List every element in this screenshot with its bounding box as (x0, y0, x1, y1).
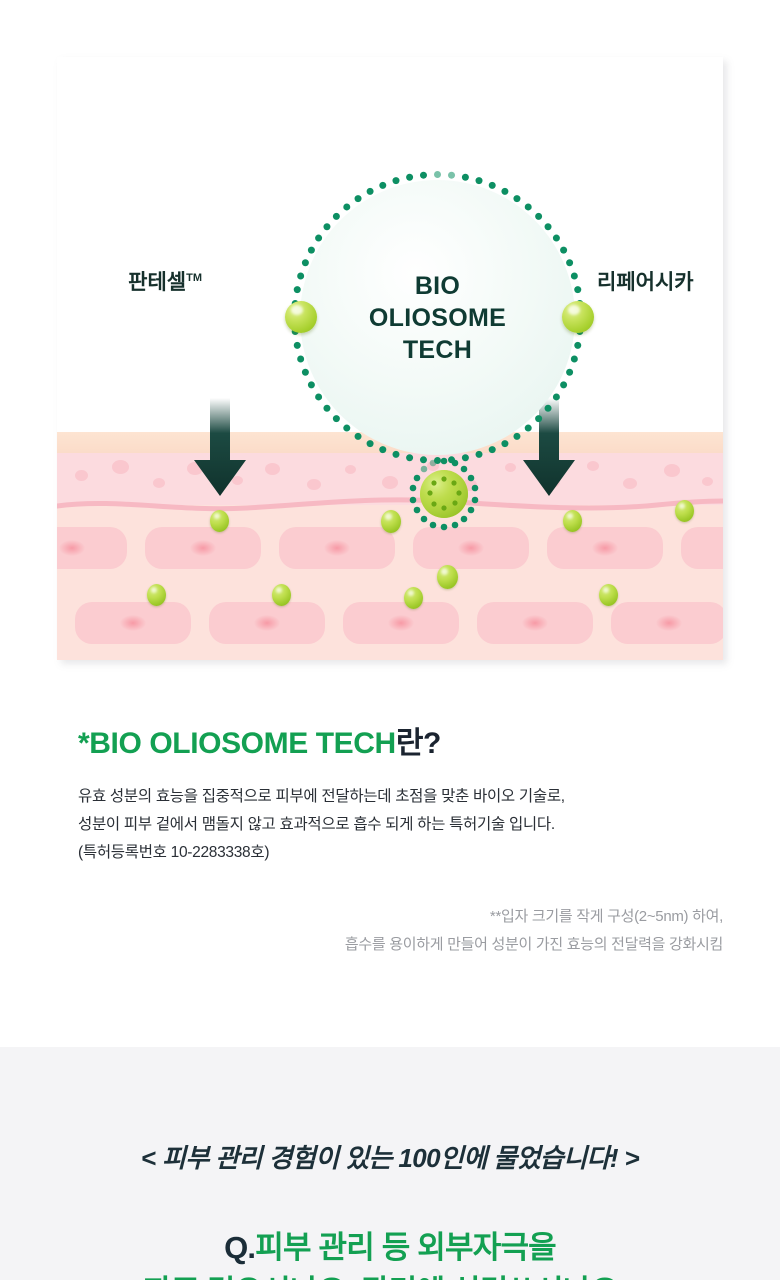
ingredient-particle (599, 584, 618, 606)
survey-question-line-2: 자주 겪으시나요, 관리에 신경쓰시나요? (0, 1266, 780, 1280)
ingredient-label-right: 리페어시카 (597, 266, 694, 296)
tech-heading: *BIO OLIOSOME TECH란? (78, 718, 441, 762)
survey-headline: < 피부 관리 경험이 있는 100인에 물었습니다! > (0, 1138, 780, 1175)
ingredient-label-left-text: 판테셀 (128, 271, 186, 294)
description-line-1: 유효 성분의 효능을 집중적으로 피부에 전달하는데 초점을 맞춘 바이오 기술… (78, 783, 698, 811)
ingredient-particle (675, 500, 694, 522)
description-line-2: 성분이 피부 겉에서 맴돌지 않고 효과적으로 흡수 되게 하는 특허기술 입니… (78, 811, 698, 839)
ingredient-bead-left (285, 301, 317, 333)
tech-heading-green: *BIO OLIOSOME TECH (78, 727, 396, 760)
trademark-mark: TM (186, 272, 202, 284)
ingredient-label-left: 판테셀TM (128, 266, 202, 296)
tech-explainer-section: BIO OLIOSOME TECH 판테셀TM 리페어시카 *BIO OLIOS… (0, 0, 780, 1047)
ingredient-particle (437, 565, 458, 589)
ingredient-particle (272, 584, 291, 606)
particle-size-note: **입자 크기를 작게 구성(2~5nm) 하여, 흡수를 용이하게 만들어 성… (83, 903, 723, 959)
question-text-1: 피부 관리 등 외부자극을 (255, 1230, 556, 1265)
note-line-1: **입자 크기를 작게 구성(2~5nm) 하여, (83, 903, 723, 931)
bubble-line-2: OLIOSOME (369, 304, 506, 332)
ingredient-particle (147, 584, 166, 606)
penetration-arrow-icon (192, 398, 248, 498)
ingredient-particle (210, 510, 229, 532)
infographic-page: BIO OLIOSOME TECH 판테셀TM 리페어시카 *BIO OLIOS… (0, 0, 780, 1280)
patent-number: (특허등록번호 10-2283338호) (78, 839, 698, 867)
bubble-line-1: BIO (415, 272, 460, 300)
skin-absorption-illustration: BIO OLIOSOME TECH 판테셀TM 리페어시카 (57, 57, 723, 660)
ingredient-particle (381, 510, 401, 533)
tech-heading-dark: 란? (396, 727, 441, 760)
tech-bubble-label: BIO OLIOSOME TECH (300, 180, 575, 455)
skin-cross-section (57, 432, 723, 660)
question-marker: Q. (224, 1230, 255, 1265)
survey-question-line-1: Q.피부 관리 등 외부자극을 (0, 1222, 780, 1267)
note-line-2: 흡수를 용이하게 만들어 성분이 가진 효능의 전달력을 강화시킴 (83, 931, 723, 959)
ingredient-particle (404, 587, 423, 609)
ingredient-particle (563, 510, 582, 532)
bubble-line-3: TECH (403, 336, 472, 364)
ingredient-bead-right (562, 301, 594, 333)
nano-molecule-icon (405, 455, 483, 533)
tech-description: 유효 성분의 효능을 집중적으로 피부에 전달하는데 초점을 맞춘 바이오 기술… (78, 783, 698, 867)
